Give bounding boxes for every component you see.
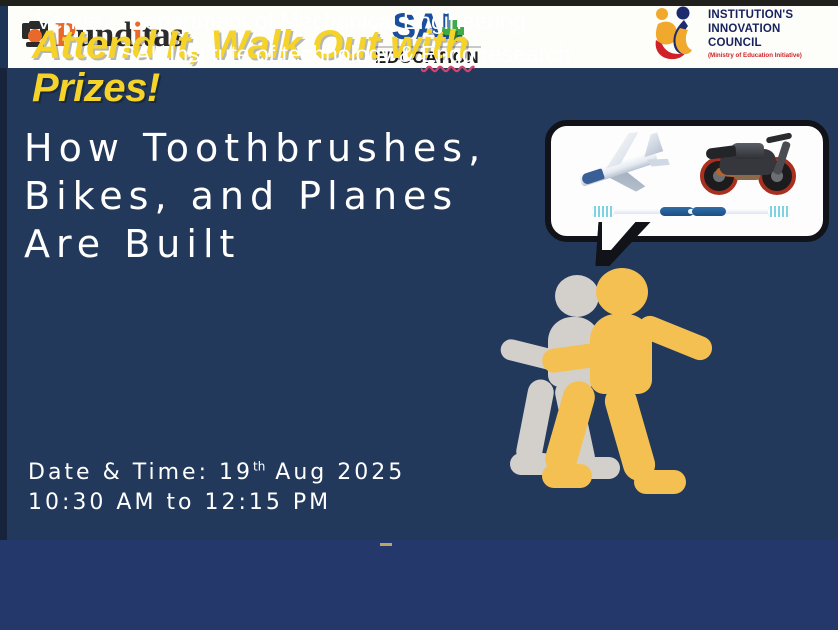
time-line: 10:30 AM to 12:15 PM: [28, 488, 405, 518]
iic-emblem-icon: [650, 6, 700, 62]
iic-line-3: COUNCIL: [708, 36, 802, 50]
venue-institute-suffix: research: [475, 41, 571, 67]
venue-band: [0, 540, 838, 630]
toothbrush-icon-left: [592, 206, 700, 217]
iic-logo: INSTITUTION'S INNOVATION COUNCIL (Minist…: [650, 5, 802, 63]
date-month-year: Aug 2025: [275, 460, 405, 485]
venue-label: Venue :: [36, 8, 114, 34]
toothbrush-icon-right: [688, 206, 790, 217]
date-day: 19: [219, 460, 253, 485]
date-day-suffix: th: [253, 460, 265, 474]
venue-line-1: Venue :Department of Mechanical Engineer…: [36, 8, 526, 35]
body-left-border: [0, 68, 7, 545]
venue-institute-prefix: SAL Institute of technology &: [120, 41, 421, 67]
page-title: How Toothbrushes, Bikes, and Planes Are …: [24, 125, 524, 269]
iic-line-2: INNOVATION: [708, 22, 802, 36]
date-label: Date & Time:: [28, 460, 209, 485]
venue-department: Department of Mechanical Engineering: [128, 8, 526, 34]
date-line: Date & Time: 19th Aug 2025: [28, 458, 405, 488]
venue-institute-misspelled: Engg: [421, 41, 475, 67]
stray-highlight-mark: [380, 543, 392, 546]
date-time-block: Date & Time: 19th Aug 2025 10:30 AM to 1…: [28, 458, 405, 517]
venue-line-2: SAL Institute of technology & Engg resea…: [120, 41, 570, 68]
iic-text-block: INSTITUTION'S INNOVATION COUNCIL (Minist…: [708, 8, 802, 60]
event-poster: Punditas SAL EDUCATION INSTITUTION'S: [0, 0, 838, 630]
speech-bubble-tail-fill: [602, 218, 639, 250]
header-left-border: [0, 6, 8, 68]
motorcycle-icon: [700, 133, 796, 195]
iic-line-1: INSTITUTION'S: [708, 8, 802, 22]
iic-ministry-note: (Ministry of Education Initiative): [708, 52, 802, 60]
